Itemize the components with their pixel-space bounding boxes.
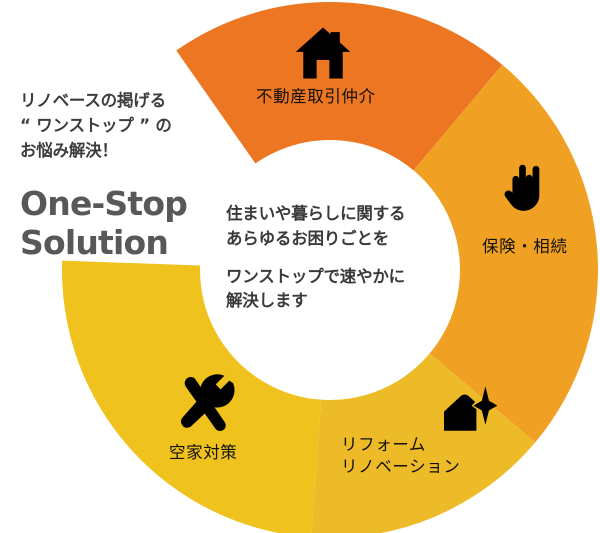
segment-label-reform-renovation[interactable]: リフォーム リノベーション <box>341 434 460 478</box>
center-paragraph-2: ワンストップで速やかに 解決します <box>226 265 456 315</box>
center-text-block: 住まいや暮らしに関する あらゆるお困りごとを ワンストップで速やかに 解決します <box>226 202 456 314</box>
center-paragraph-1: 住まいや暮らしに関する あらゆるお困りごとを <box>226 202 456 252</box>
hammer-wrench-icon <box>176 372 238 438</box>
segment-label-vacant-house[interactable]: 空家対策 <box>169 442 237 464</box>
left-text-block: リノベースの掲げる “ ワンストップ ” の お悩み解決！ One-Stop S… <box>20 88 220 263</box>
house-sparkle-icon <box>438 378 498 442</box>
lead-copy: リノベースの掲げる “ ワンストップ ” の お悩み解決！ <box>20 88 220 163</box>
one-stop-solution-infographic: 不動産取引仲介保険・相続リフォーム リノベーション空家対策 リノベースの掲げる … <box>0 0 600 533</box>
page-title: One-Stop Solution <box>20 185 220 263</box>
hand-heart-icon <box>499 158 555 218</box>
segment-label-insurance-inheritance[interactable]: 保険・相続 <box>482 236 568 258</box>
house-icon <box>294 24 352 86</box>
segment-label-real-estate[interactable]: 不動産取引仲介 <box>256 86 376 108</box>
